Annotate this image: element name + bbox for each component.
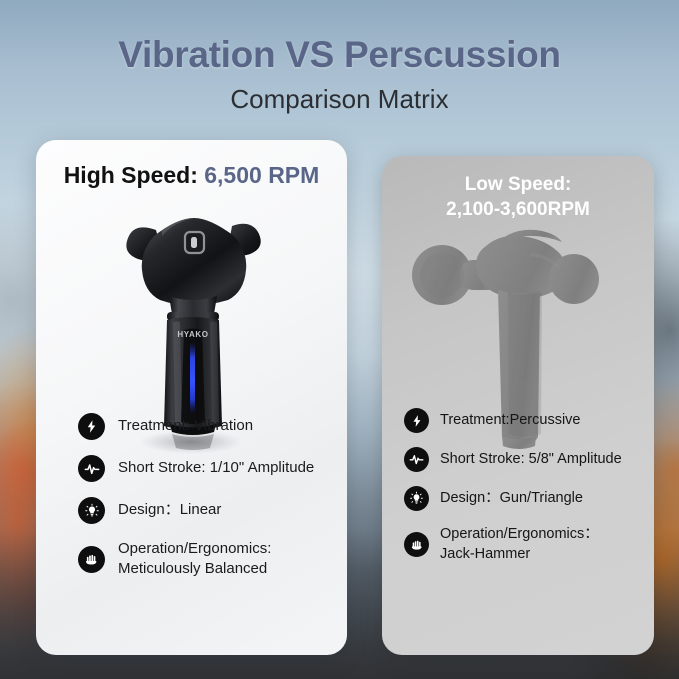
card-high-speed-heading: High Speed: 6,500 RPM — [36, 140, 347, 189]
card-low-speed: Low Speed: 2,100-3,600RPM — [382, 156, 654, 655]
high-speed-label: High Speed: — [64, 162, 198, 188]
feature-ergonomics: Operation/Ergonomics： Jack-Hammer — [404, 525, 654, 564]
feature-ergonomics-line1: Operation/Ergonomics: — [118, 540, 271, 557]
feature-ergonomics: Operation/Ergonomics: Meticulously Balan… — [78, 539, 347, 580]
feature-stroke: Short Stroke: 5/8" Amplitude — [404, 447, 654, 472]
feature-design-text: Design：Linear — [118, 500, 221, 520]
feature-design-text: Design：Gun/Triangle — [440, 489, 583, 509]
card-low-speed-heading: Low Speed: 2,100-3,600RPM — [382, 156, 654, 222]
page-title: Vibration VS Perscussion — [0, 34, 679, 76]
feature-list-low-speed: Treatment:Percussive Short Stroke: 5/8" … — [382, 408, 654, 578]
header: Vibration VS Perscussion Comparison Matr… — [0, 0, 679, 115]
lightning-bolt-icon — [404, 408, 429, 433]
page-subtitle: Comparison Matrix — [0, 84, 679, 115]
card-high-speed: High Speed: 6,500 RPM — [36, 140, 347, 655]
lightbulb-icon — [78, 497, 105, 524]
pulse-wave-icon — [404, 447, 429, 472]
feature-ergonomics-text: Operation/Ergonomics: Meticulously Balan… — [118, 539, 271, 580]
feature-ergonomics-line2: Meticulously Balanced — [118, 560, 267, 577]
feature-design: Design：Gun/Triangle — [404, 486, 654, 511]
feature-stroke-text: Short Stroke: 1/10" Amplitude — [118, 458, 314, 478]
feature-stroke-text: Short Stroke: 5/8" Amplitude — [440, 450, 622, 470]
hand-grip-icon — [404, 532, 429, 557]
low-speed-value: 2,100-3,600RPM — [382, 197, 654, 222]
low-speed-label: Low Speed: — [382, 172, 654, 197]
feature-treatment-text: Treatment: Vibration — [118, 416, 253, 436]
comparison-infographic: Vibration VS Perscussion Comparison Matr… — [0, 0, 679, 679]
high-speed-value: 6,500 RPM — [204, 162, 319, 188]
feature-ergonomics-text: Operation/Ergonomics： Jack-Hammer — [440, 525, 599, 564]
hand-grip-icon — [78, 546, 105, 573]
product-brand-text: HYAKO — [177, 330, 208, 339]
feature-treatment: Treatment: Vibration — [78, 413, 347, 440]
pulse-wave-icon — [78, 455, 105, 482]
feature-ergonomics-line2: Jack-Hammer — [440, 546, 530, 562]
feature-treatment: Treatment:Percussive — [404, 408, 654, 433]
lightbulb-icon — [404, 486, 429, 511]
lightning-bolt-icon — [78, 413, 105, 440]
feature-ergonomics-line1: Operation/Ergonomics： — [440, 526, 599, 542]
feature-treatment-text: Treatment:Percussive — [440, 411, 580, 431]
feature-stroke: Short Stroke: 1/10" Amplitude — [78, 455, 347, 482]
feature-list-high-speed: Treatment: Vibration Short Stroke: 1/10"… — [36, 413, 347, 595]
feature-design: Design：Linear — [78, 497, 347, 524]
